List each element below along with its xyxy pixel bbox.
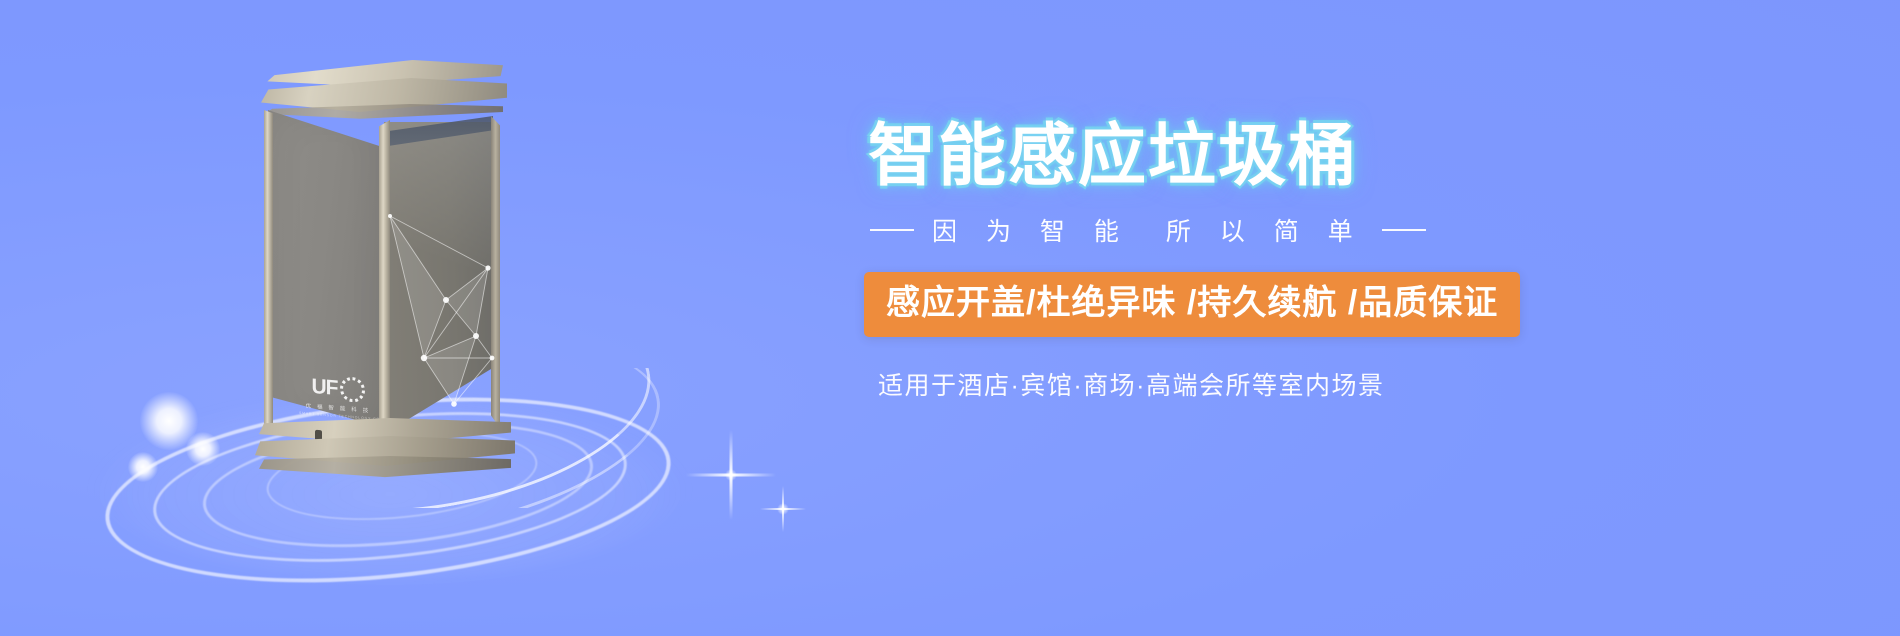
brand-logo-row: UF (299, 373, 377, 404)
light-blob-3 (128, 452, 158, 482)
brand-circle-icon (340, 376, 365, 403)
light-blob-2 (186, 432, 220, 466)
promo-banner: UF 优 福 智 能 科 技 SMART SENSOR TECHNOLOGY C… (0, 0, 1900, 636)
sparkle-core (725, 469, 737, 481)
product-stage: UF 优 福 智 能 科 技 SMART SENSOR TECHNOLOGY C… (0, 0, 830, 636)
product-image-trash-bin: UF 优 福 智 能 科 技 SMART SENSOR TECHNOLOGY C… (255, 58, 515, 458)
sparkle-icon-small (760, 486, 806, 532)
copy-block: 智能感应垃圾桶 因 为 智 能 所 以 简 单 感应开盖/杜绝异味 /持久续航 … (860, 0, 1860, 636)
polygon-network-graphic (384, 208, 502, 418)
dash-right-icon (1382, 229, 1426, 231)
headline-title: 智能感应垃圾桶 (868, 122, 1868, 190)
product-brand-mark: UF 优 福 智 能 科 技 SMART SENSOR TECHNOLOGY C… (299, 373, 377, 421)
subheadline-text: 因 为 智 能 所 以 简 单 (932, 212, 1364, 248)
feature-tag-bar: 感应开盖/杜绝异味 /持久续航 /品质保证 (864, 272, 1520, 337)
brand-text-uf: UF (312, 376, 338, 399)
sparkle-core (777, 503, 789, 515)
dash-left-icon (870, 229, 914, 231)
usage-scenario-text: 适用于酒店·宾馆·商场·高端会所等室内场景 (878, 366, 1384, 402)
bin-edge-post-left (264, 110, 273, 432)
bin-lid-shadow (265, 104, 503, 120)
subheadline-row: 因 为 智 能 所 以 简 单 (870, 212, 1426, 248)
